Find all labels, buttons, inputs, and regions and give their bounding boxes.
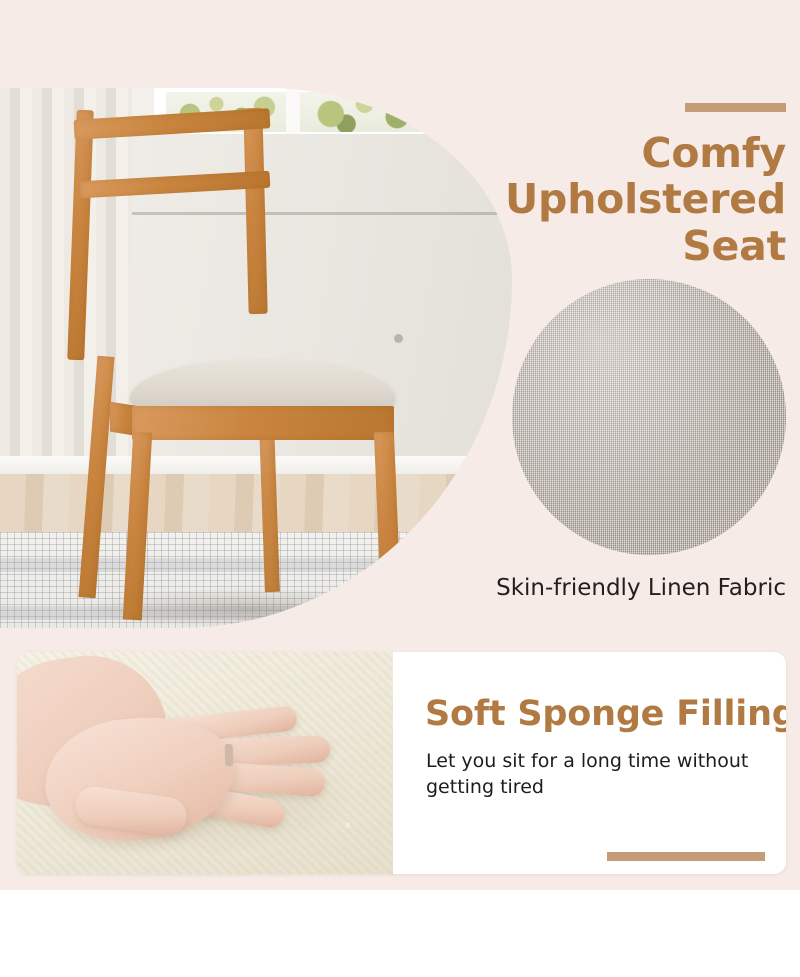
chair-leg-back-left — [79, 356, 115, 599]
chair-back-slat-top — [74, 108, 271, 140]
hero-heading-line-3: Seat — [430, 223, 786, 269]
hero-heading: Comfy Upholstered Seat — [430, 130, 786, 269]
sponge-panel-subtitle: Let you sit for a long time without gett… — [426, 749, 774, 800]
chair-back-post-right — [243, 108, 267, 314]
chair-apron-front — [132, 406, 394, 440]
top-accent-bar — [685, 103, 786, 112]
product-feature-infographic: Comfy Upholstered Seat Skin-friendly Lin… — [0, 0, 800, 977]
chair-leg-back-right — [259, 424, 280, 592]
fabric-caption: Skin-friendly Linen Fabric — [386, 575, 786, 601]
hero-heading-line-2: Upholstered — [430, 176, 786, 222]
bottom-accent-bar — [607, 852, 765, 861]
sponge-text-block: Soft Sponge Filling Let you sit for a lo… — [408, 652, 786, 874]
chair-back-slat-middle — [80, 171, 271, 199]
hero-heading-line-1: Comfy — [430, 130, 786, 176]
hand-pressing-sponge-photo — [17, 652, 393, 874]
fabric-sheen — [512, 279, 786, 555]
sponge-panel-title: Soft Sponge Filling — [425, 694, 775, 734]
linen-fabric-swatch — [512, 279, 786, 555]
chair-back-post-left — [67, 110, 94, 360]
finger-ring-jewelry — [225, 744, 234, 766]
sponge-feature-panel: Soft Sponge Filling Let you sit for a lo… — [17, 652, 786, 874]
